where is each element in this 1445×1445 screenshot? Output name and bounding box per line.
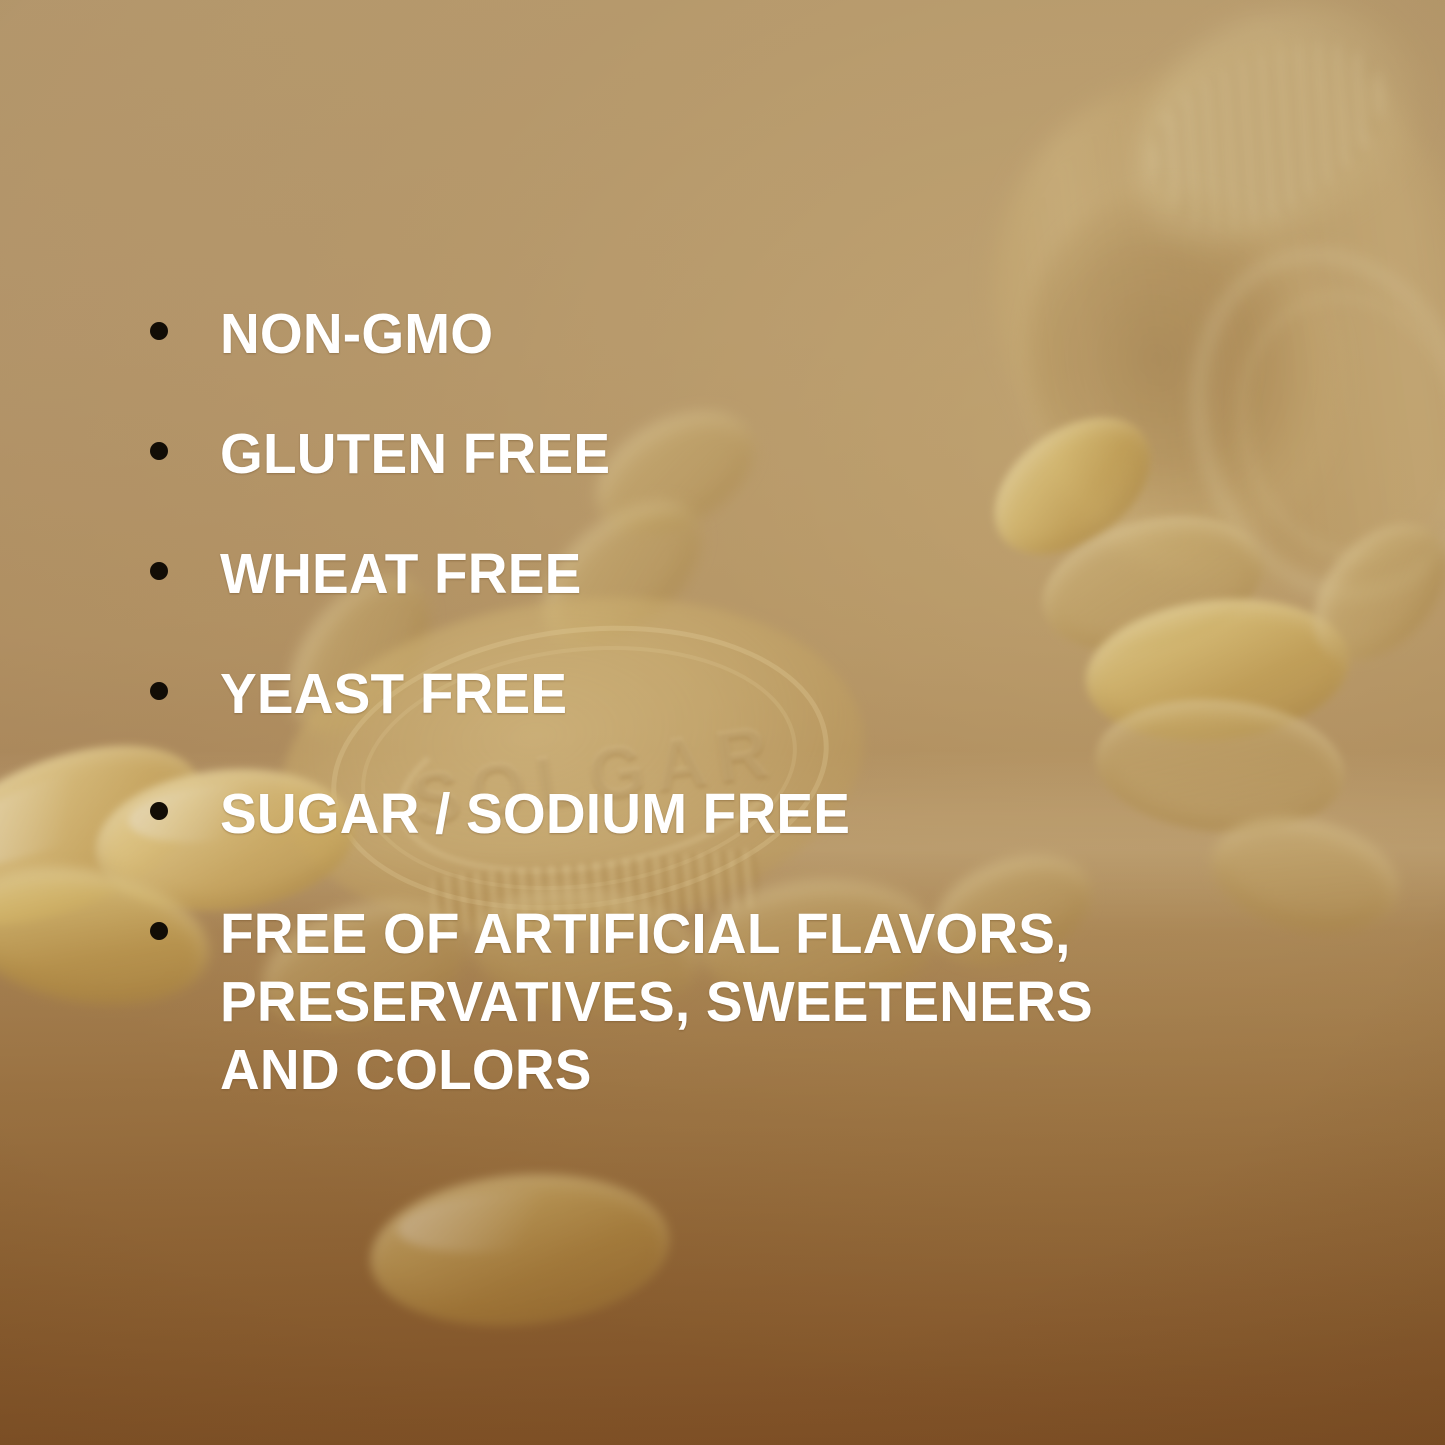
list-item: FREE OF ARTIFICIAL FLAVORS, PRESERVATIVE… — [150, 900, 1210, 1104]
bullet-dot-icon — [150, 802, 168, 820]
bullet-dot-icon — [150, 442, 168, 460]
benefit-label: GLUTEN FREE — [220, 420, 1175, 488]
product-benefits-graphic: SOLGAR NON-GMO GLUTEN FREE WHEAT FREE — [0, 0, 1445, 1445]
benefit-label: SUGAR / SODIUM FREE — [220, 780, 1175, 848]
bullet-dot-icon — [150, 562, 168, 580]
benefit-label: YEAST FREE — [220, 660, 1175, 728]
list-item: WHEAT FREE — [150, 540, 1210, 608]
benefit-label: NON-GMO — [220, 300, 1175, 368]
list-item: NON-GMO — [150, 300, 1210, 368]
bullet-dot-icon — [150, 682, 168, 700]
list-item: SUGAR / SODIUM FREE — [150, 780, 1210, 848]
benefit-label: WHEAT FREE — [220, 540, 1175, 608]
list-item: YEAST FREE — [150, 660, 1210, 728]
benefit-label: FREE OF ARTIFICIAL FLAVORS, PRESERVATIVE… — [220, 900, 1175, 1104]
bullet-dot-icon — [150, 322, 168, 340]
bullet-dot-icon — [150, 922, 168, 940]
benefits-list: NON-GMO GLUTEN FREE WHEAT FREE YEAST FRE… — [150, 300, 1210, 1104]
list-item: GLUTEN FREE — [150, 420, 1210, 488]
